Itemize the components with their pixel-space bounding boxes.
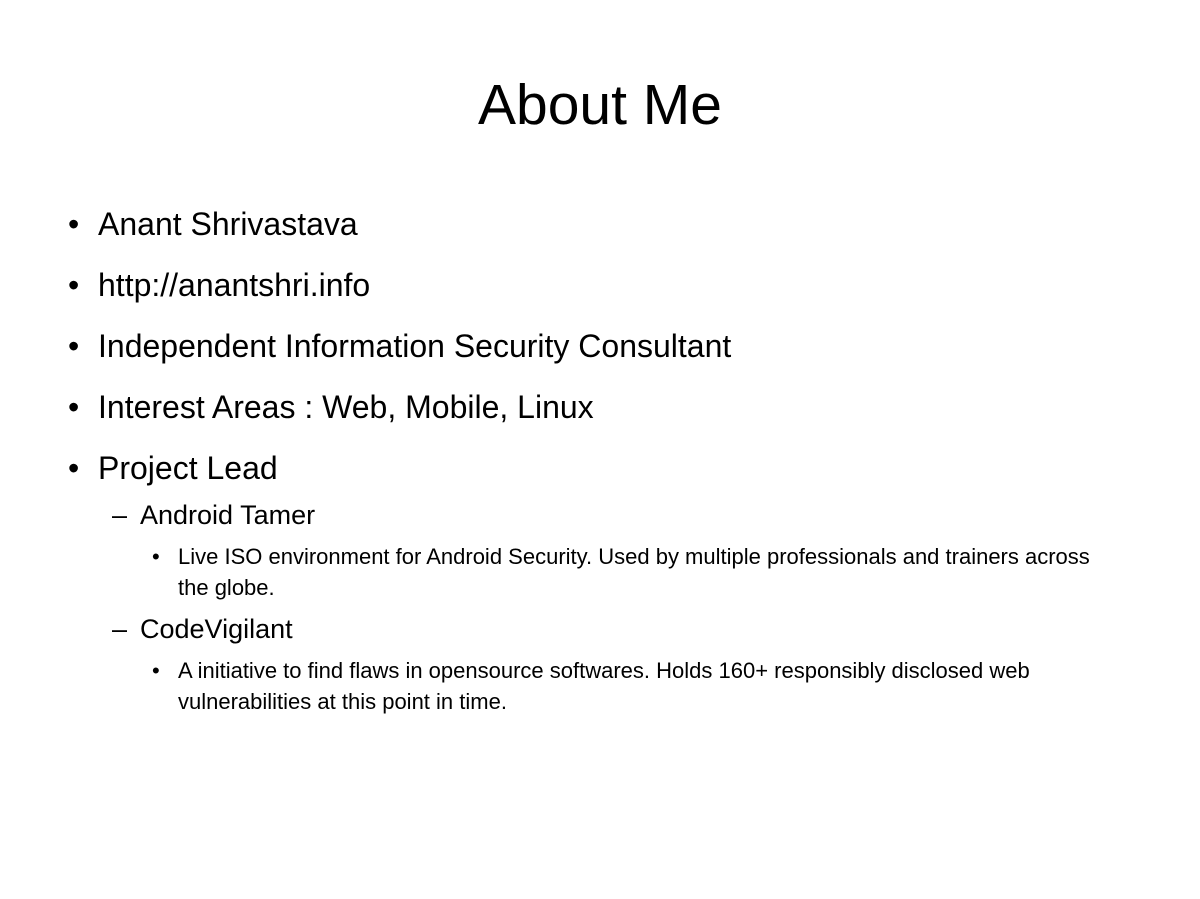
list-item: • Project Lead — [60, 450, 1140, 487]
list-item: • Anant Shrivastava — [60, 206, 1140, 243]
list-item-label: Project Lead — [98, 450, 1140, 487]
list-item-label: Independent Information Security Consult… — [98, 328, 1140, 365]
sub-list-item: – Android Tamer — [60, 499, 1140, 532]
sub-sub-list-item-label: Live ISO environment for Android Securit… — [178, 541, 1126, 603]
sub-sub-list-item: • Live ISO environment for Android Secur… — [60, 541, 1140, 603]
list-item-label: Interest Areas : Web, Mobile, Linux — [98, 389, 1140, 426]
bullet-marker-icon: • — [152, 541, 178, 572]
bullet-marker-icon: • — [68, 328, 98, 365]
sub-list-item-label: Android Tamer — [140, 499, 1140, 532]
sub-list-item: – CodeVigilant — [60, 613, 1140, 646]
bullet-marker-icon: • — [68, 389, 98, 426]
list-item: • Interest Areas : Web, Mobile, Linux — [60, 389, 1140, 426]
bullet-marker-icon: • — [152, 655, 178, 686]
sub-sub-list-item: • A initiative to find flaws in opensour… — [60, 655, 1140, 717]
sub-list-item-label: CodeVigilant — [140, 613, 1140, 646]
dash-marker-icon: – — [112, 613, 140, 646]
presentation-slide: About Me • Anant Shrivastava • http://an… — [0, 0, 1200, 899]
sub-sub-list-item-label: A initiative to find flaws in opensource… — [178, 655, 1126, 717]
list-item: • Independent Information Security Consu… — [60, 328, 1140, 365]
dash-marker-icon: – — [112, 499, 140, 532]
bullet-marker-icon: • — [68, 267, 98, 304]
list-item-label: Anant Shrivastava — [98, 206, 1140, 243]
list-item-label: http://anantshri.info — [98, 267, 1140, 304]
page-title: About Me — [0, 72, 1200, 138]
list-item: • http://anantshri.info — [60, 267, 1140, 304]
slide-body-outline: • Anant Shrivastava • http://anantshri.i… — [60, 206, 1140, 727]
bullet-marker-icon: • — [68, 450, 98, 487]
bullet-marker-icon: • — [68, 206, 98, 243]
